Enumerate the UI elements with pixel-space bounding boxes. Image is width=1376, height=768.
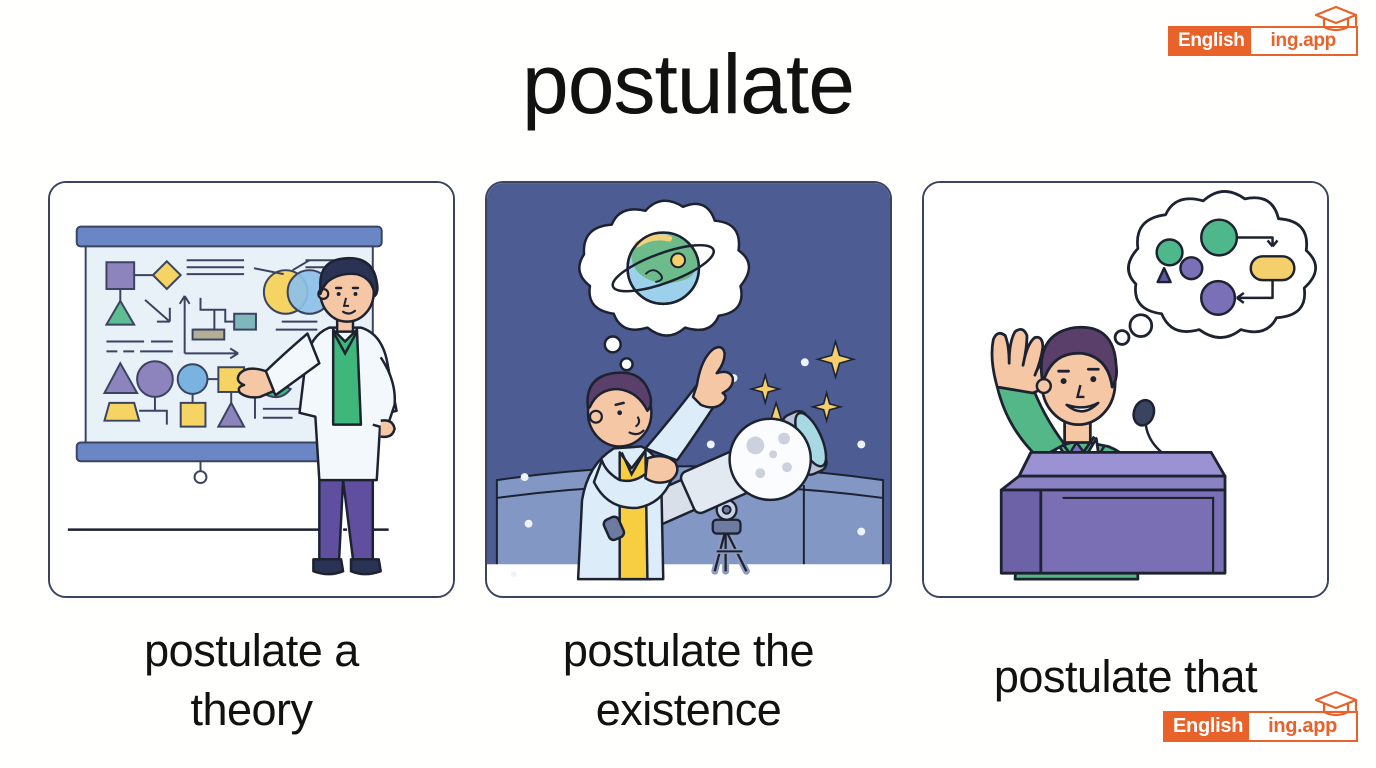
brand-logo-top-english: English [1170,28,1251,54]
illustration-panels [48,181,1329,598]
panel-postulate-a-theory[interactable] [48,181,455,598]
brand-logo-bottom-english: English [1165,713,1249,740]
brand-logo-bottom[interactable]: English ing.app [1163,711,1358,742]
caption-postulate-the-existence: postulate the existence [485,622,892,739]
caption-line: theory [48,681,455,740]
caption-line: existence [485,681,892,740]
caption-line: postulate a [48,622,455,681]
brand-logo-top[interactable]: English ing.app [1168,26,1358,56]
caption-line: postulate the [485,622,892,681]
caption-line: postulate that [922,648,1329,707]
graduation-cap-icon [1312,689,1360,719]
illustration-scientist-presenting [50,183,453,596]
panel-captions: postulate a theory postulate the existen… [48,622,1329,739]
graduation-cap-icon [1312,4,1360,34]
panel-postulate-the-existence[interactable] [485,181,892,598]
illustration-astronomer-telescope [487,183,890,596]
panel-postulate-that[interactable] [922,181,1329,598]
caption-postulate-a-theory: postulate a theory [48,622,455,739]
illustration-speaker-podium [924,183,1327,596]
